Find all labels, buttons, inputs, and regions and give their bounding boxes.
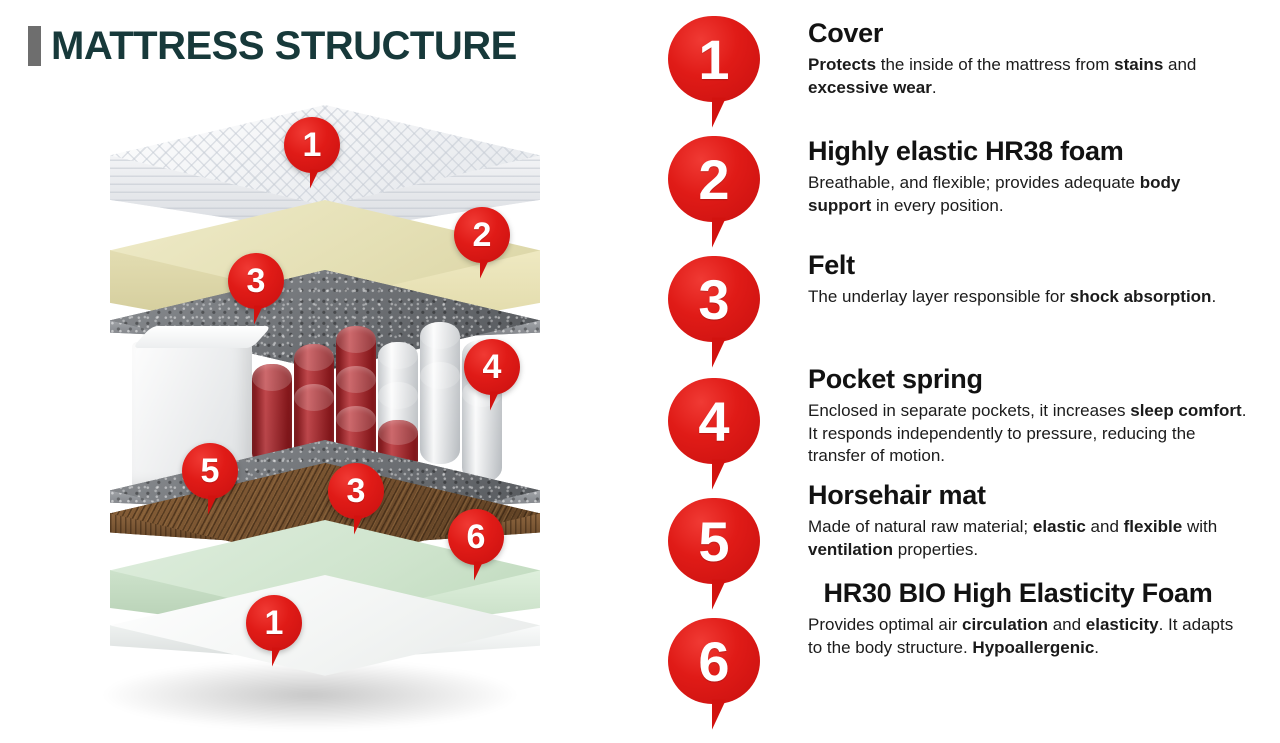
legend-description-horsehair-mat: Made of natural raw material; elastic an… <box>808 516 1248 561</box>
legend-pin-1[interactable]: 1 <box>668 16 760 102</box>
legend-description-cover: Protects the inside of the mattress from… <box>808 54 1248 99</box>
infographic-page: MATTRESS STRUCTURE <box>0 0 1280 743</box>
legend-pin-5[interactable]: 5 <box>668 498 760 584</box>
legend-heading-hr38-foam: Highly elastic HR38 foam <box>808 136 1248 166</box>
legend-heading-cover: Cover <box>808 18 1248 48</box>
illustration-pin-3-felt-upper[interactable]: 3 <box>228 253 284 309</box>
legend-entry-cover: Cover Protects the inside of the mattres… <box>808 18 1248 99</box>
illustration-pin-2-hr38[interactable]: 2 <box>454 207 510 263</box>
legend-entry-horsehair-mat: Horsehair mat Made of natural raw materi… <box>808 480 1248 561</box>
illustration-pin-3-felt-lower[interactable]: 3 <box>328 463 384 519</box>
spring-coil <box>420 362 460 464</box>
legend-pin-3[interactable]: 3 <box>668 256 760 342</box>
legend-entry-pocket-spring: Pocket spring Enclosed in separate pocke… <box>808 364 1248 468</box>
illustration-pin-1-cover[interactable]: 1 <box>284 117 340 173</box>
legend-text-column: Cover Protects the inside of the mattres… <box>808 0 1258 743</box>
illustration-pin-4-pocket-spring[interactable]: 4 <box>464 339 520 395</box>
foam-edge-top-face <box>132 326 272 348</box>
legend-pin-6[interactable]: 6 <box>668 618 760 704</box>
mattress-illustration: 1 2 3 4 5 3 6 1 <box>60 95 620 725</box>
illustration-pin-6-hr30[interactable]: 6 <box>448 509 504 565</box>
legend-heading-hr30-foam: HR30 BIO High Elasticity Foam <box>808 578 1228 608</box>
legend-pin-2[interactable]: 2 <box>668 136 760 222</box>
legend-description-hr38-foam: Breathable, and flexible; provides adequ… <box>808 172 1248 217</box>
legend-entry-hr30-foam: HR30 BIO High Elasticity Foam Provides o… <box>808 578 1248 659</box>
illustration-pin-5-horsehair[interactable]: 5 <box>182 443 238 499</box>
legend-description-pocket-spring: Enclosed in separate pockets, it increas… <box>808 400 1248 468</box>
legend-heading-horsehair-mat: Horsehair mat <box>808 480 1248 510</box>
legend-heading-pocket-spring: Pocket spring <box>808 364 1248 394</box>
legend-entry-felt: Felt The underlay layer responsible for … <box>808 250 1248 309</box>
legend-description-hr30-foam: Provides optimal air circulation and ela… <box>808 614 1248 659</box>
page-title: MATTRESS STRUCTURE <box>51 26 517 66</box>
title-accent-bar <box>28 26 41 66</box>
legend-entry-hr38-foam: Highly elastic HR38 foam Breathable, and… <box>808 136 1248 217</box>
page-title-row: MATTRESS STRUCTURE <box>28 26 517 66</box>
legend-pin-4[interactable]: 4 <box>668 378 760 464</box>
legend-description-felt: The underlay layer responsible for shock… <box>808 286 1248 309</box>
legend-pins-column: 1 2 3 4 5 6 <box>660 0 780 743</box>
legend-heading-felt: Felt <box>808 250 1248 280</box>
illustration-pin-1-base[interactable]: 1 <box>246 595 302 651</box>
